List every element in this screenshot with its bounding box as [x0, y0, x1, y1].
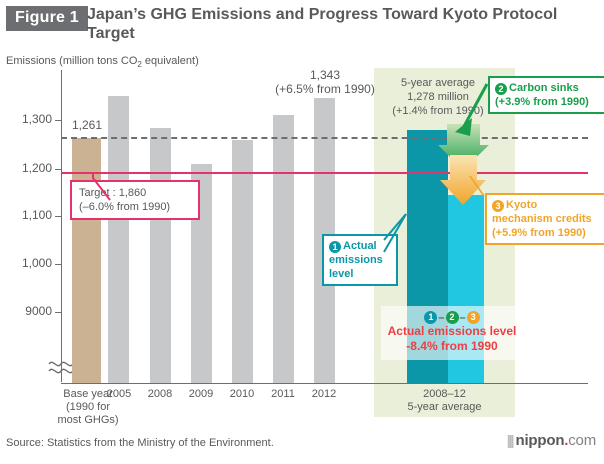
summary-line-1: Actual emissions level: [381, 324, 523, 339]
average-line-3: (+1.4% from 1990): [374, 104, 502, 118]
reference-line-kyoto-target: [61, 172, 588, 174]
bar-2010: [232, 140, 253, 383]
summary-chip-1: 1: [424, 311, 437, 324]
actual-level-line-3: level: [329, 267, 391, 281]
carbon-sinks-line-2: (+3.9% from 1990): [495, 95, 601, 109]
actual-level-line-2: emissions: [329, 253, 391, 267]
x-axis-line: [61, 383, 588, 384]
x-label-2005: 2005: [98, 388, 140, 401]
source-note: Source: Statistics from the Ministry of …: [6, 437, 274, 449]
y-axis-unit-text: Emissions (million tons CO: [6, 55, 137, 67]
actual-level-line-1: Actual: [343, 240, 377, 252]
marker-3-icon: 3: [492, 200, 504, 212]
x-label-2011: 2011: [262, 388, 304, 401]
marker-1-icon: 1: [329, 241, 341, 253]
x-label-5yr-average-l1: 2008–12: [374, 388, 515, 401]
y-axis-unit-tail: equivalent): [142, 55, 199, 67]
plot-area: 1,300 1,200 1,100 1,000 9000 1,261 1,343: [0, 68, 604, 418]
summary-chip-3: 3: [467, 311, 480, 324]
x-label-2009: 2009: [180, 388, 222, 401]
carbon-sinks-line-1: Carbon sinks: [509, 82, 579, 94]
reference-line-1990: [61, 137, 588, 139]
x-label-5yr-average: 2008–12 5-year average: [374, 388, 515, 414]
logo-name: nippon: [516, 432, 565, 449]
summary-sep-1: –: [437, 312, 445, 324]
bar-base-year: [72, 138, 101, 383]
page-title: Japan’s GHG Emissions and Progress Towar…: [87, 5, 587, 43]
callout-target-line-2: (–6.0% from 1990): [79, 200, 191, 214]
x-label-base-year-l3: most GHGs): [50, 414, 126, 427]
bar-2005: [108, 96, 129, 383]
callout-target: Target : 1,860 (–6.0% from 1990): [70, 180, 200, 220]
summary-sep-2: –: [459, 312, 467, 324]
x-label-2012: 2012: [303, 388, 345, 401]
callout-actual-emissions: 1Actual emissions level: [322, 234, 398, 286]
bar-2011: [273, 115, 294, 383]
callout-carbon-sinks: 2Carbon sinks (+3.9% from 1990): [488, 76, 604, 114]
summary-block: 1–2–3 Actual emissions level -8.4% from …: [381, 306, 523, 360]
figure-number-badge: Figure 1: [6, 6, 88, 31]
callout-target-line-1: Target : 1,860: [79, 186, 191, 200]
marker-2-icon: 2: [495, 83, 507, 95]
kyoto-credits-line-1: Kyoto: [506, 199, 537, 211]
kyoto-credits-line-2: mechanism credits: [492, 212, 600, 226]
x-label-5yr-average-l2: 5-year average: [374, 401, 515, 414]
summary-chip-2: 2: [446, 311, 459, 324]
x-label-2010: 2010: [221, 388, 263, 401]
bar-label-base-year: 1,261: [58, 118, 116, 132]
bar-2008: [150, 128, 171, 383]
figure-root: Figure 1 Japan’s GHG Emissions and Progr…: [0, 0, 604, 464]
nippon-com-logo: |||nippon.com: [507, 432, 596, 449]
logo-com: com: [568, 432, 596, 449]
average-line-1: 5-year average: [374, 76, 502, 90]
average-line-2: 1,278 million: [374, 90, 502, 104]
x-label-2008: 2008: [139, 388, 181, 401]
kyoto-credits-line-3: (+5.9% from 1990): [492, 226, 600, 240]
callout-kyoto-credits: 3Kyoto mechanism credits (+5.9% from 199…: [485, 193, 604, 245]
logo-mark-icon: |||: [507, 432, 513, 448]
average-annotation: 5-year average 1,278 million (+1.4% from…: [374, 76, 502, 118]
x-label-base-year-l2: (1990 for: [50, 401, 126, 414]
summary-line-2: -8.4% from 1990: [381, 339, 523, 354]
summary-chips: 1–2–3: [381, 310, 523, 324]
